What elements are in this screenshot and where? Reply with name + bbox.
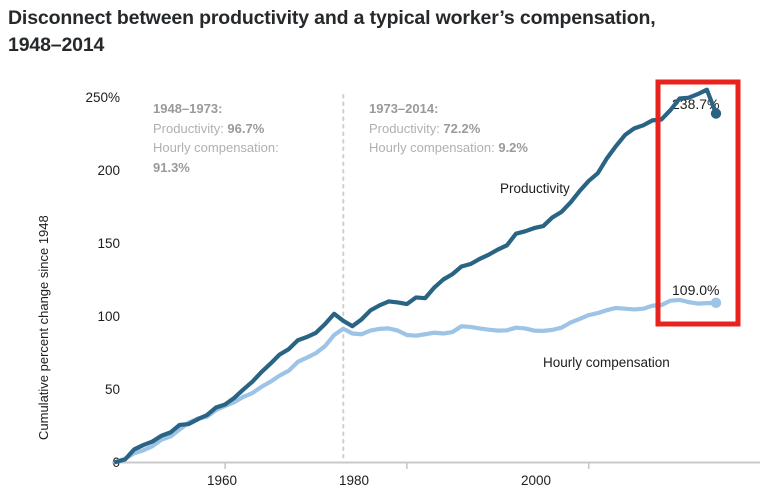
chart-plot bbox=[0, 0, 767, 502]
series-line-productivity bbox=[116, 90, 716, 462]
endpoint-dot-compensation bbox=[711, 298, 721, 308]
highlight-box bbox=[658, 82, 738, 324]
series-line-compensation bbox=[116, 300, 716, 462]
endpoint-dot-productivity bbox=[711, 108, 721, 118]
chart-page: Disconnect between productivity and a ty… bbox=[0, 0, 767, 502]
